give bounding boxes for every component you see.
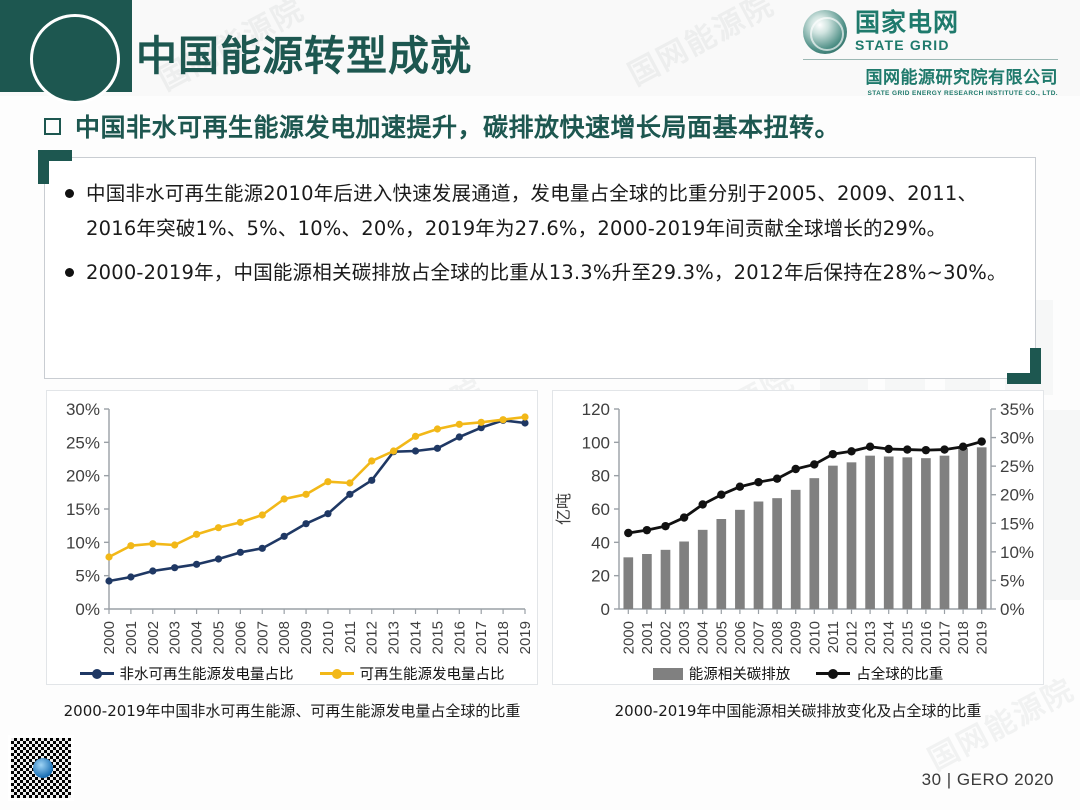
chart-data-point — [847, 447, 855, 455]
chart-bar — [623, 557, 633, 609]
x-axis-tick-label: 2005 — [210, 621, 227, 654]
x-axis-tick-label: 2004 — [695, 621, 712, 654]
legend-label: 占全球的比重 — [856, 663, 943, 684]
chart-data-point — [149, 567, 156, 574]
chart-renewable-share: 0%5%10%15%20%25%30%200020012002200320042… — [46, 390, 538, 685]
chart-data-point — [792, 465, 800, 473]
chart-data-point — [237, 549, 244, 556]
list-item: 2000-2019年，中国能源相关碳排放占全球的比重从13.3%升至29.3%，… — [65, 255, 1011, 290]
chart-bar — [828, 466, 838, 609]
state-grid-globe-icon — [803, 10, 847, 54]
chart-data-point — [281, 533, 288, 540]
page-title: 中国能源转型成就 — [136, 22, 472, 82]
logo-sub-en-name: STATE GRID ENERGY RESEARCH INSTITUTE CO.… — [803, 90, 1058, 97]
y-axis-tick-label: 10% — [66, 533, 100, 552]
legend-marker-icon — [828, 669, 838, 679]
body-text-box: 中国非水可再生能源2010年后进入快速发展通道，发电量占全球的比重分别于2005… — [44, 157, 1036, 379]
chart-data-point — [302, 491, 309, 498]
chart-data-point — [324, 510, 331, 517]
x-axis-tick-label: 2017 — [937, 621, 954, 654]
legend-line-icon — [816, 672, 850, 675]
qr-code-icon[interactable] — [8, 735, 74, 801]
chart-data-point — [521, 413, 528, 420]
legend-swatch-icon — [653, 668, 683, 680]
x-axis-tick-label: 2018 — [955, 621, 972, 654]
logo-sub-cn-name: 国网能源研究院有限公司 — [803, 63, 1058, 88]
x-axis-tick-label: 2016 — [451, 621, 468, 654]
y-axis-tick-label: 5% — [75, 567, 100, 586]
chart-data-point — [885, 445, 893, 453]
x-axis-tick-label: 2002 — [145, 621, 162, 654]
chart-data-point — [829, 450, 837, 458]
legend-label: 能源相关碳排放 — [689, 663, 791, 684]
chart-data-point — [412, 447, 419, 454]
chart-bar — [977, 447, 987, 609]
y-axis-tick-label: 30% — [66, 400, 100, 419]
chart-data-point — [810, 460, 818, 468]
y2-axis-tick-label: 15% — [1000, 514, 1034, 533]
chart-data-point — [903, 445, 911, 453]
chart-data-point — [390, 447, 397, 454]
chart-data-point — [412, 433, 419, 440]
x-axis-tick-label: 2016 — [918, 621, 935, 654]
chart-data-point — [259, 511, 266, 518]
x-axis-tick-label: 2019 — [974, 621, 991, 654]
y-axis-tick-label: 60 — [591, 500, 610, 519]
x-axis-tick-label: 2014 — [408, 621, 425, 654]
chart-bar — [958, 448, 968, 609]
x-axis-tick-label: 2008 — [769, 621, 786, 654]
y-axis-tick-label: 100 — [582, 433, 610, 452]
x-axis-tick-label: 2001 — [639, 621, 656, 654]
chart-data-point — [754, 478, 762, 486]
section-heading: 中国非水可再生能源发电加速提升，碳排放快速增长局面基本扭转。 — [44, 108, 840, 144]
chart-data-point — [680, 513, 688, 521]
x-axis-tick-label: 2018 — [495, 621, 512, 654]
chart-data-point — [193, 561, 200, 568]
chart-data-point — [127, 542, 134, 549]
x-axis-tick-label: 2000 — [101, 621, 118, 654]
header-circle-decoration — [30, 14, 120, 104]
y2-axis-tick-label: 5% — [1000, 571, 1025, 590]
chart-bar — [940, 456, 950, 609]
x-axis-tick-label: 2009 — [298, 621, 315, 654]
legend-line-icon — [320, 672, 354, 675]
chart-data-point — [866, 443, 874, 451]
chart-data-point — [368, 457, 375, 464]
chart-legend-right: 能源相关碳排放占全球的比重 — [552, 663, 1044, 684]
y-axis-tick-label: 0% — [75, 600, 100, 619]
chart-line-nonhydro — [109, 420, 525, 581]
x-axis-tick-label: 2005 — [713, 621, 730, 654]
y2-axis-tick-label: 10% — [1000, 543, 1034, 562]
chart-data-point — [500, 416, 507, 423]
x-axis-tick-label: 2002 — [658, 621, 675, 654]
chart-data-point — [105, 553, 112, 560]
legend-label: 可再生能源发电量占比 — [360, 663, 505, 684]
x-axis-tick-label: 2017 — [473, 621, 490, 654]
chart-bar — [735, 510, 745, 609]
bullet-text: 2000-2019年，中国能源相关碳排放占全球的比重从13.3%升至29.3%，… — [86, 255, 1007, 290]
chart-data-point — [434, 445, 441, 452]
x-axis-tick-label: 2010 — [320, 621, 337, 654]
legend-item: 非水可再生能源发电量占比 — [80, 663, 294, 684]
chart-bar — [754, 502, 764, 610]
x-axis-tick-label: 2010 — [806, 621, 823, 654]
chart-data-point — [434, 425, 441, 432]
y2-axis-tick-label: 25% — [1000, 457, 1034, 476]
logo-divider — [803, 59, 1058, 60]
x-axis-tick-label: 2006 — [732, 621, 749, 654]
legend-item: 能源相关碳排放 — [653, 663, 791, 684]
chart-caption-right: 2000-2019年中国能源相关碳排放变化及占全球的比重 — [552, 700, 1044, 723]
x-axis-tick-label: 2008 — [276, 621, 293, 654]
x-axis-tick-label: 2003 — [676, 621, 693, 654]
watermark-band — [1040, 410, 1080, 600]
chart-data-point — [368, 477, 375, 484]
chart-data-point — [717, 491, 725, 499]
chart-bar — [661, 550, 671, 609]
legend-marker-icon — [332, 669, 342, 679]
x-axis-tick-label: 2013 — [386, 621, 403, 654]
chart-data-point — [281, 495, 288, 502]
legend-item: 占全球的比重 — [816, 663, 943, 684]
chart-bar — [698, 530, 708, 609]
chart-data-point — [940, 445, 948, 453]
x-axis-tick-label: 2019 — [517, 621, 534, 654]
chart-data-point — [105, 577, 112, 584]
section-heading-text: 中国非水可再生能源发电加速提升，碳排放快速增长局面基本扭转。 — [75, 108, 840, 144]
square-bullet-icon — [44, 118, 61, 135]
chart-data-point — [302, 520, 309, 527]
watermark-text: 国网能源院 — [619, 0, 781, 94]
y-axis-title: 亿吨 — [555, 493, 573, 525]
chart-bar — [642, 554, 652, 609]
legend-label: 非水可再生能源发电量占比 — [120, 663, 294, 684]
state-grid-logo: 国家电网 STATE GRID 国网能源研究院有限公司 STATE GRID E… — [803, 10, 1058, 94]
x-axis-tick-label: 2011 — [342, 621, 359, 653]
chart-data-point — [661, 522, 669, 530]
chart-carbon-emissions: 0204060801001200%5%10%15%20%25%30%35%亿吨2… — [552, 390, 1044, 685]
y2-axis-tick-label: 35% — [1000, 400, 1034, 419]
y-axis-tick-label: 120 — [582, 400, 610, 419]
chart-bar — [716, 519, 726, 609]
bullet-dot-icon — [65, 189, 74, 198]
x-axis-tick-label: 2015 — [429, 621, 446, 654]
chart-data-point — [127, 573, 134, 580]
chart-data-point — [699, 500, 707, 508]
chart-svg-left: 0%5%10%15%20%25%30%200020012002200320042… — [47, 391, 539, 686]
chart-bar — [847, 462, 857, 609]
chart-bar — [791, 490, 801, 609]
chart-data-point — [643, 526, 651, 534]
chart-data-point — [456, 421, 463, 428]
x-axis-tick-label: 2014 — [881, 621, 898, 654]
x-axis-tick-label: 2003 — [167, 621, 184, 654]
chart-data-point — [346, 491, 353, 498]
x-axis-tick-label: 2001 — [123, 621, 140, 654]
chart-data-point — [478, 419, 485, 426]
chart-data-point — [922, 446, 930, 454]
page-number: 30 | GERO 2020 — [922, 770, 1054, 790]
x-axis-tick-label: 2004 — [189, 621, 206, 654]
x-axis-tick-label: 2012 — [844, 621, 861, 654]
chart-data-point — [773, 475, 781, 483]
logo-cn-name: 国家电网 — [855, 10, 959, 36]
chart-svg-right: 0204060801001200%5%10%15%20%25%30%35%亿吨2… — [553, 391, 1045, 686]
chart-data-point — [237, 519, 244, 526]
chart-bar — [921, 458, 931, 609]
y2-axis-tick-label: 20% — [1000, 486, 1034, 505]
chart-data-point — [456, 433, 463, 440]
chart-data-point — [978, 437, 986, 445]
chart-bar — [902, 457, 912, 609]
x-axis-tick-label: 2015 — [899, 621, 916, 654]
chart-data-point — [193, 531, 200, 538]
chart-data-point — [171, 564, 178, 571]
y-axis-tick-label: 20% — [66, 467, 100, 486]
y-axis-tick-label: 15% — [66, 500, 100, 519]
x-axis-tick-label: 2006 — [232, 621, 249, 654]
y-axis-tick-label: 80 — [591, 467, 610, 486]
chart-data-point — [346, 479, 353, 486]
bullet-text: 中国非水可再生能源2010年后进入快速发展通道，发电量占全球的比重分别于2005… — [86, 176, 1011, 247]
legend-marker-icon — [92, 669, 102, 679]
chart-bar — [772, 498, 782, 609]
chart-data-point — [259, 545, 266, 552]
x-axis-tick-label: 2009 — [788, 621, 805, 654]
chart-bar — [884, 457, 894, 610]
chart-bar — [679, 542, 689, 610]
chart-data-point — [324, 478, 331, 485]
y2-axis-tick-label: 0% — [1000, 600, 1025, 619]
y-axis-tick-label: 40 — [591, 533, 610, 552]
corner-bracket-top-left — [38, 150, 72, 184]
x-axis-tick-label: 2000 — [620, 621, 637, 654]
chart-bar — [865, 456, 875, 609]
chart-data-point — [215, 555, 222, 562]
chart-data-point — [171, 541, 178, 548]
slide-root: 国网能源院 国网能源院 国网能源院 国网能源院 国网能源院 中国能源转型成就 国… — [0, 0, 1080, 810]
chart-data-point — [215, 524, 222, 531]
x-axis-tick-label: 2011 — [825, 621, 842, 653]
x-axis-tick-label: 2007 — [751, 621, 768, 654]
chart-bar — [809, 478, 819, 609]
x-axis-tick-label: 2007 — [254, 621, 271, 654]
y-axis-tick-label: 20 — [591, 567, 610, 586]
y2-axis-tick-label: 30% — [1000, 429, 1034, 448]
x-axis-tick-label: 2013 — [862, 621, 879, 654]
logo-en-name: STATE GRID — [855, 37, 959, 54]
corner-bracket-bottom-right — [1007, 348, 1041, 384]
y-axis-tick-label: 25% — [66, 433, 100, 452]
legend-line-icon — [80, 672, 114, 675]
chart-data-point — [149, 540, 156, 547]
chart-caption-left: 2000-2019年中国非水可再生能源、可再生能源发电量占全球的比重 — [46, 700, 538, 723]
chart-legend-left: 非水可再生能源发电量占比可再生能源发电量占比 — [46, 663, 538, 684]
chart-data-point — [624, 529, 632, 537]
legend-item: 可再生能源发电量占比 — [320, 663, 505, 684]
y-axis-tick-label: 0 — [601, 600, 610, 619]
chart-data-point — [736, 483, 744, 491]
x-axis-tick-label: 2012 — [364, 621, 381, 654]
list-item: 中国非水可再生能源2010年后进入快速发展通道，发电量占全球的比重分别于2005… — [65, 176, 1011, 247]
bullet-dot-icon — [65, 268, 74, 277]
chart-data-point — [959, 443, 967, 451]
